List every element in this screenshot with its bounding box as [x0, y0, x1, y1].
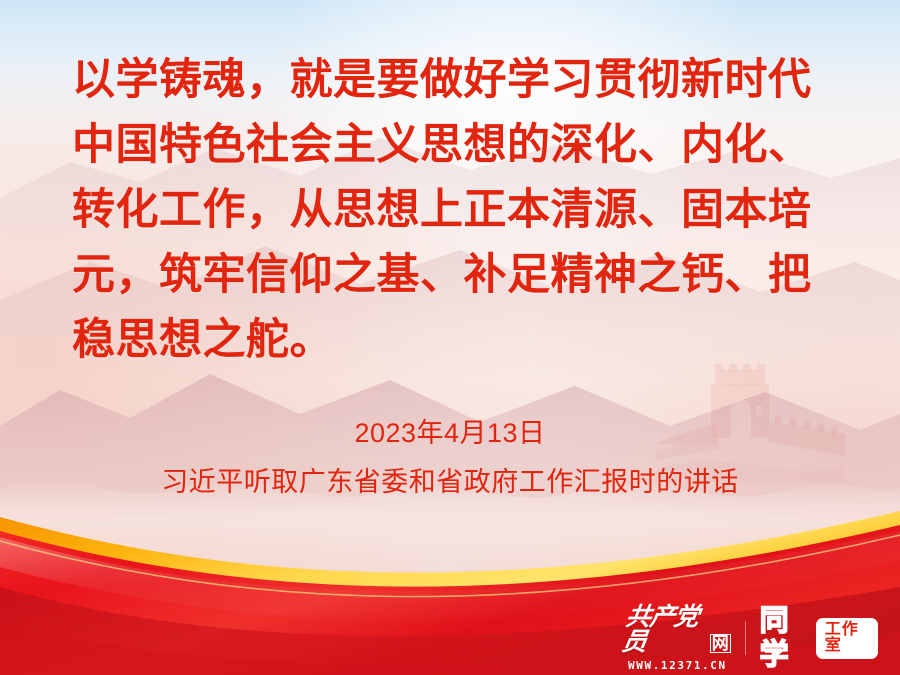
- quote-line-1: 以学铸魂，就是要做好学习贯彻新时代: [72, 48, 862, 113]
- logo-divider: [745, 621, 746, 655]
- quote-line-4: 元，筑牢信仰之基、补足精神之钙、把: [72, 243, 862, 308]
- attribution-source: 习近平听取广东省委和省政府工作汇报时的讲话: [0, 462, 900, 502]
- site-logo-mark: 共产党员 网: [624, 605, 731, 655]
- quote-line-5: 稳思想之舵。: [72, 308, 862, 373]
- quote-text-block: 以学铸魂，就是要做好学习贯彻新时代 中国特色社会主义思想的深化、内化、 转化工作…: [72, 48, 862, 373]
- site-logo-box-text: 网: [710, 634, 731, 653]
- studio-logo-outline-text: 同学: [760, 604, 812, 672]
- quote-poster: 以学铸魂，就是要做好学习贯彻新时代 中国特色社会主义思想的深化、内化、 转化工作…: [0, 0, 900, 675]
- studio-logo-tongxue[interactable]: 同学 工作室: [760, 604, 878, 672]
- studio-logo-pill-text: 工作室: [816, 618, 878, 659]
- quote-line-2: 中国特色社会主义思想的深化、内化、: [72, 113, 862, 178]
- attribution-date: 2023年4月13日: [0, 414, 900, 452]
- site-logo-url: WWW.12371.CN: [628, 660, 727, 671]
- logo-area: 共产党员 网 WWW.12371.CN 同学 工作室: [624, 612, 878, 664]
- attribution-block: 2023年4月13日 习近平听取广东省委和省政府工作汇报时的讲话: [0, 414, 900, 502]
- site-logo-12371[interactable]: 共产党员 网 WWW.12371.CN: [624, 605, 731, 671]
- quote-line-3: 转化工作，从思想上正本清源、固本培: [72, 178, 862, 243]
- site-logo-cursive-text: 共产党员: [620, 605, 711, 655]
